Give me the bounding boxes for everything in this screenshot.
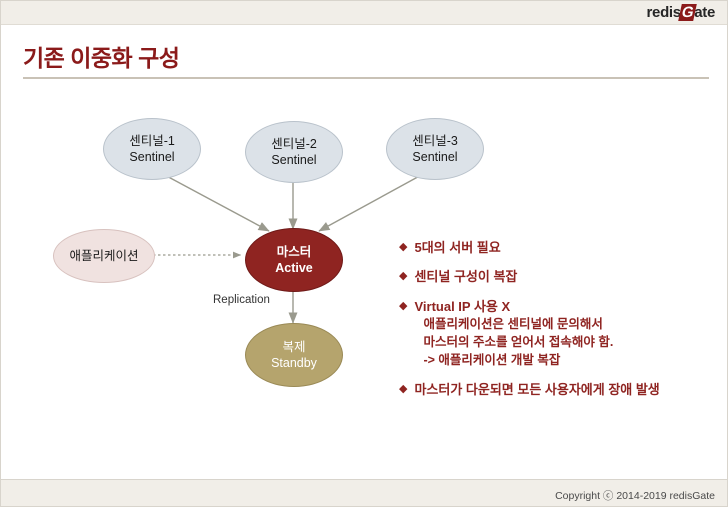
bullet-item: ◆ 센티널 구성이 복잡 (399, 268, 719, 286)
bullet-text: Virtual IP 사용 X (414, 299, 510, 314)
redisgate-logo: redisGate (646, 4, 715, 21)
bullet-subtext: 애플리케이션은 센티널에 문의해서 (414, 316, 613, 334)
bullet-subtext: 마스터의 주소를 얻어서 접속해야 함. (414, 334, 613, 352)
node-sentinel-2: 센티널-2 Sentinel (245, 121, 343, 183)
bullet-item: ◆ 마스터가 다운되면 모든 사용자에게 장애 발생 (399, 381, 719, 399)
bullet-text: 5대의 서버 필요 (414, 239, 500, 257)
sentinel-2-name-en: Sentinel (271, 152, 316, 168)
bullet-item: ◆ 5대의 서버 필요 (399, 239, 719, 257)
master-line2: Active (275, 260, 313, 276)
master-line1: 마스터 (277, 244, 312, 260)
logo-text-post: ate (694, 4, 715, 21)
diamond-bullet-icon: ◆ (399, 298, 407, 315)
node-master: 마스터 Active (245, 228, 343, 292)
bullet-text: 마스터가 다운되면 모든 사용자에게 장애 발생 (414, 381, 659, 399)
node-sentinel-1: 센티널-1 Sentinel (103, 118, 201, 180)
header-band (1, 1, 728, 25)
standby-line1: 복제 (282, 339, 305, 355)
title-divider (23, 77, 709, 79)
page-title: 기존 이중화 구성 (23, 39, 709, 73)
sentinel-3-name-ko: 센티널-3 (412, 133, 458, 149)
application-label: 애플리케이션 (69, 248, 138, 264)
bullet-subtext: -> 애플리케이션 개발 복잡 (414, 352, 613, 370)
bullet-text: 센티널 구성이 복잡 (414, 268, 517, 286)
bullet-text-group: Virtual IP 사용 X 애플리케이션은 센티널에 문의해서 마스터의 주… (414, 298, 613, 370)
diamond-bullet-icon: ◆ (399, 239, 407, 256)
standby-line2: Standby (271, 355, 317, 371)
slide: redisGate 기존 이중화 구성 센티널-1 Sentinel 센티널-2 (0, 0, 728, 507)
copyright-text: Copyright ⓒ 2014-2019 redisGate (555, 488, 715, 503)
node-sentinel-3: 센티널-3 Sentinel (386, 118, 484, 180)
node-standby: 복제 Standby (245, 323, 343, 387)
sentinel-3-name-en: Sentinel (412, 149, 457, 165)
logo-text-pre: redis (646, 4, 680, 21)
sentinel-1-name-en: Sentinel (129, 149, 174, 165)
diamond-bullet-icon: ◆ (399, 268, 407, 285)
sentinel-2-name-ko: 센티널-2 (271, 136, 317, 152)
node-application: 애플리케이션 (53, 229, 155, 283)
replication-label: Replication (213, 294, 270, 306)
diamond-bullet-icon: ◆ (399, 381, 407, 398)
bullet-item: ◆ Virtual IP 사용 X 애플리케이션은 센티널에 문의해서 마스터의… (399, 298, 719, 370)
page-title-text: 기존 이중화 구성 (23, 39, 709, 73)
bullet-list: ◆ 5대의 서버 필요 ◆ 센티널 구성이 복잡 ◆ Virtual IP 사용… (399, 239, 719, 410)
sentinel-1-name-ko: 센티널-1 (129, 133, 175, 149)
